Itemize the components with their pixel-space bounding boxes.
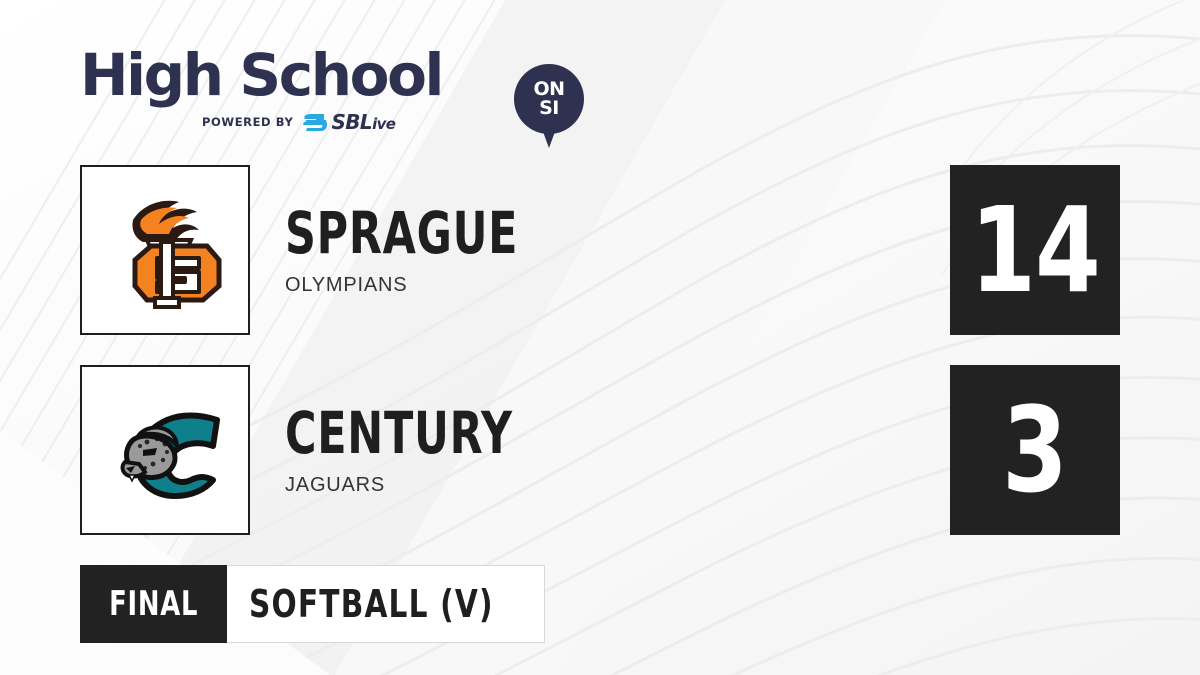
game-status-label: FINAL (109, 584, 198, 624)
team-mascot: OLYMPIANS (285, 274, 600, 297)
on-si-pin-icon: ON SI (514, 64, 584, 150)
team-row: CENTURY JAGUARS 3 (0, 365, 1200, 535)
team-mascot: JAGUARS (285, 474, 593, 497)
sport-panel: SOFTBALL (V) (227, 565, 545, 643)
team-row: SPRAGUE OLYMPIANS 14 (0, 165, 1200, 335)
powered-by-block: POWERED BY SBLive (202, 110, 395, 134)
sblive-s-mark-icon (302, 112, 328, 133)
team-score-box: 3 (950, 365, 1120, 535)
team-name: SPRAGUE (285, 204, 518, 262)
brand-header: High School ON SI POWERED BY SBLive (80, 32, 520, 132)
game-status-badge: FINAL (80, 565, 227, 643)
pin-label-line2: SI (539, 99, 559, 118)
sblive-word-suffix: ive (372, 115, 395, 133)
team-text-block: SPRAGUE OLYMPIANS (285, 165, 600, 335)
sblive-logo: SBLive (302, 110, 395, 134)
status-bar: FINAL SOFTBALL (V) (80, 565, 545, 643)
team-logo-box (80, 365, 250, 535)
team-score: 3 (1003, 391, 1068, 509)
team-name: CENTURY (285, 404, 513, 462)
brand-wordmark: High School (80, 44, 442, 106)
powered-by-label: POWERED BY (202, 115, 293, 129)
pin-label: ON SI (514, 64, 584, 134)
sblive-wordmark: SBLive (331, 110, 395, 134)
team-score: 14 (970, 191, 1100, 309)
sblive-word-main: SBL (331, 110, 372, 134)
team-logo-box (80, 165, 250, 335)
scoreboard-graphic: High School ON SI POWERED BY SBLive (0, 0, 1200, 675)
team-text-block: CENTURY JAGUARS (285, 365, 593, 535)
sprague-torch-s-logo-icon (95, 180, 235, 320)
team-score-box: 14 (950, 165, 1120, 335)
sport-label: SOFTBALL (V) (249, 582, 494, 626)
century-jaguar-c-logo-icon (95, 380, 235, 520)
